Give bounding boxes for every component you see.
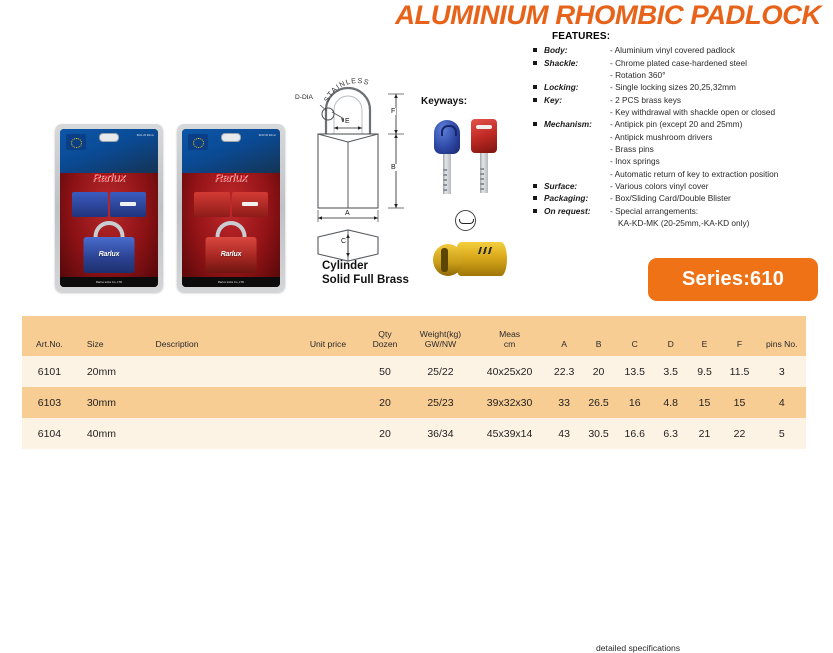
feature-value: - 2 PCS brass keys xyxy=(610,94,833,106)
bullet-square-icon xyxy=(533,57,544,65)
cell-f: 15 xyxy=(721,387,757,418)
col-unit-price: Unit price xyxy=(295,316,362,356)
lock-body-shape: Rarlux xyxy=(206,237,257,273)
feature-value: - Antipick mushroom drivers xyxy=(610,131,833,143)
col-a: detailed specifications A xyxy=(547,316,581,356)
feature-value: - Single locking sizes 20,25,32mm xyxy=(610,81,833,93)
features-heading: FEATURES: xyxy=(552,31,833,43)
cell-d: 4.8 xyxy=(654,387,688,418)
bullet-square-icon xyxy=(533,69,544,73)
cell-size: 40mm xyxy=(77,418,146,449)
bullet-square-icon xyxy=(533,217,544,221)
cylinder-caption: Cylinder Solid Full Brass xyxy=(322,259,409,287)
label-c: C xyxy=(340,238,347,245)
feature-row: Surface:- Various colors vinyl cover xyxy=(533,180,833,192)
feature-row: Locking:- Single locking sizes 20,25,32m… xyxy=(533,81,833,93)
col-a-label: A xyxy=(561,339,567,349)
col-qty-top: Qty xyxy=(361,329,408,339)
feature-row: - Inox springs xyxy=(533,155,833,167)
col-e: E xyxy=(688,316,722,356)
cell-a: 33 xyxy=(547,387,581,418)
feature-value: - Antipick pin (except 20 and 25mm) xyxy=(610,118,833,130)
bullet-square-icon xyxy=(533,143,544,147)
feature-value: - Various colors vinyl cover xyxy=(610,180,833,192)
key-blade-blue xyxy=(443,154,451,194)
features-block: FEATURES: Body:- Aluminium vinyl covered… xyxy=(533,31,833,230)
key-cap-left xyxy=(194,192,230,217)
cell-b: 26.5 xyxy=(581,387,615,418)
bullet-square-icon xyxy=(533,180,544,188)
feature-row: On request:- Special arrangements: xyxy=(533,205,833,217)
key-blue xyxy=(434,120,460,194)
table-head: Art.No. Size Description Unit price Qty … xyxy=(22,316,806,356)
eu-badge-icon xyxy=(188,134,208,150)
feature-value: - Chrome plated case-hardened steel xyxy=(610,57,833,69)
key-cap-left xyxy=(72,192,108,217)
feature-row: - Automatic return of key to extraction … xyxy=(533,168,833,180)
specifications-table: Art.No. Size Description Unit price Qty … xyxy=(22,316,806,449)
cell-description xyxy=(146,356,295,387)
key-cap-right xyxy=(232,192,268,217)
brass-cylinder-photo xyxy=(433,238,509,282)
cell-weight: 25/22 xyxy=(409,356,473,387)
col-size: Size xyxy=(77,316,146,356)
cell-description xyxy=(146,387,295,418)
feature-value: - Key withdrawal with shackle open or cl… xyxy=(610,106,833,118)
feature-row: Packaging:- Box/Sliding Card/Double Blis… xyxy=(533,192,833,204)
table-row: 610330mm2025/2339x32x303326.5164.815154 xyxy=(22,387,806,418)
key-red xyxy=(471,119,497,193)
bullet-square-icon xyxy=(533,44,544,52)
feature-label: Key: xyxy=(544,94,610,106)
cell-art-no: 6104 xyxy=(22,418,77,449)
cell-art-no: 6101 xyxy=(22,356,77,387)
key-cap-right xyxy=(110,192,146,217)
cell-d: 3.5 xyxy=(654,356,688,387)
cell-unit-price xyxy=(295,356,362,387)
bullet-square-icon xyxy=(533,192,544,200)
bullet-square-icon xyxy=(533,106,544,110)
package-code-blue: 6101 20 20mm xyxy=(137,134,154,137)
cell-b: 30.5 xyxy=(581,418,615,449)
cell-f: 22 xyxy=(721,418,757,449)
col-b: B xyxy=(581,316,615,356)
cell-description xyxy=(146,418,295,449)
col-pins: pins No. xyxy=(758,316,806,356)
shackle-shape xyxy=(93,221,125,237)
feature-value: - Special arrangements: xyxy=(610,205,833,217)
col-weight: Weight(kg) GW/NW xyxy=(409,316,473,356)
bullet-square-icon xyxy=(533,205,544,213)
stainless-label: STAINLESS xyxy=(318,78,396,118)
bullet-square-icon xyxy=(533,168,544,172)
label-d-dia: D-DIA xyxy=(295,94,313,101)
catalog-page: ALUMINIUM RHOMBIC PADLOCK FEATURES: Body… xyxy=(0,0,833,449)
feature-value: - Box/Sliding Card/Double Blister xyxy=(610,192,833,204)
label-a: A xyxy=(344,210,351,217)
table-row: 610440mm2036/3445x39x144330.516.66.32122… xyxy=(22,418,806,449)
cell-a: 22.3 xyxy=(547,356,581,387)
blister-card-blue: 6101 20 20mm Rarlux Rarlux Rarlux locks … xyxy=(60,129,158,287)
col-d: D xyxy=(654,316,688,356)
label-e: E xyxy=(344,118,351,125)
lock-body-shape: Rarlux xyxy=(84,237,135,273)
page-title: ALUMINIUM RHOMBIC PADLOCK xyxy=(379,0,833,30)
feature-value: - Rotation 360° xyxy=(610,69,833,81)
cell-c: 16.6 xyxy=(616,418,654,449)
col-meas-top: Meas xyxy=(472,329,547,339)
feature-label: On request: xyxy=(544,205,610,217)
cell-unit-price xyxy=(295,418,362,449)
bullet-square-icon xyxy=(533,94,544,102)
feature-label: Packaging: xyxy=(544,192,610,204)
cell-unit-price xyxy=(295,387,362,418)
col-weight-top: Weight(kg) xyxy=(409,329,473,339)
bullet-square-icon xyxy=(533,118,544,126)
feature-value: - Brass pins xyxy=(610,143,833,155)
package-brand-blue: Rarlux xyxy=(60,172,158,184)
key-pack-red xyxy=(194,192,268,217)
label-f: F xyxy=(390,108,396,115)
feature-row: - Antipick mushroom drivers xyxy=(533,131,833,143)
col-qty: Qty Dozen xyxy=(361,316,408,356)
cell-meas: 39x32x30 xyxy=(472,387,547,418)
cell-c: 13.5 xyxy=(616,356,654,387)
package-footer-red: Rarlux locks Co.,LTD xyxy=(182,277,280,287)
cell-pins: 4 xyxy=(758,387,806,418)
col-meas: Meas cm xyxy=(472,316,547,356)
shackle-shape xyxy=(215,221,247,237)
cell-c: 16 xyxy=(616,387,654,418)
key-head-red xyxy=(471,119,497,153)
table-body: 610120mm5025/2240x25x2022.32013.53.59.51… xyxy=(22,356,806,449)
package-code-red: 6103 30 30mm xyxy=(259,134,276,137)
feature-row: Key:- 2 PCS brass keys xyxy=(533,94,833,106)
cell-size: 20mm xyxy=(77,356,146,387)
lock-brand-red: Rarlux xyxy=(206,251,257,258)
cell-pins: 3 xyxy=(758,356,806,387)
feature-label: Mechanism: xyxy=(544,118,610,130)
feature-label: Locking: xyxy=(544,81,610,93)
product-photo-red: 6103 30 30mm Rarlux Rarlux Rarlux locks … xyxy=(177,124,285,292)
feature-row: - Brass pins xyxy=(533,143,833,155)
cell-a: 43 xyxy=(547,418,581,449)
bullet-square-icon xyxy=(533,81,544,89)
cell-qty: 20 xyxy=(361,387,408,418)
cell-d: 6.3 xyxy=(654,418,688,449)
cylinder-ribs xyxy=(478,247,494,254)
feature-row: KA-KD-MK (20-25mm,-KA-KD only) xyxy=(533,217,833,229)
feature-row: - Rotation 360° xyxy=(533,69,833,81)
series-badge: Series:610 xyxy=(648,258,818,301)
cell-meas: 40x25x20 xyxy=(472,356,547,387)
table-row: 610120mm5025/2240x25x2022.32013.53.59.51… xyxy=(22,356,806,387)
hang-hole-icon xyxy=(99,133,119,142)
feature-value: - Inox springs xyxy=(610,155,833,167)
cell-e: 9.5 xyxy=(688,356,722,387)
cell-weight: 25/23 xyxy=(409,387,473,418)
cell-qty: 50 xyxy=(361,356,408,387)
lock-brand-blue: Rarlux xyxy=(84,251,135,258)
col-weight-bottom: GW/NW xyxy=(425,339,457,349)
cylinder-caption-line2: Solid Full Brass xyxy=(322,273,409,287)
cell-e: 15 xyxy=(688,387,722,418)
feature-label: Surface: xyxy=(544,180,610,192)
blister-card-red: 6103 30 30mm Rarlux Rarlux Rarlux locks … xyxy=(182,129,280,287)
keyways-title: Keyways: xyxy=(421,96,467,107)
cylinder-keyway-face xyxy=(433,244,463,276)
col-f: F xyxy=(721,316,757,356)
cell-pins: 5 xyxy=(758,418,806,449)
feature-value: KA-KD-MK (20-25mm,-KA-KD only) xyxy=(610,217,833,229)
feature-row: - Key withdrawal with shackle open or cl… xyxy=(533,106,833,118)
cell-weight: 36/34 xyxy=(409,418,473,449)
package-brand-red: Rarlux xyxy=(182,172,280,184)
key-head-blue xyxy=(434,120,460,154)
col-qty-bottom: Dozen xyxy=(373,339,398,349)
cell-size: 30mm xyxy=(77,387,146,418)
cylinder-caption-line1: Cylinder xyxy=(322,259,409,273)
cell-art-no: 6103 xyxy=(22,387,77,418)
eu-badge-icon xyxy=(66,134,86,150)
cell-qty: 20 xyxy=(361,418,408,449)
product-photo-blue: 6101 20 20mm Rarlux Rarlux Rarlux locks … xyxy=(55,124,163,292)
col-description: Description xyxy=(146,316,295,356)
col-meas-bottom: cm xyxy=(504,339,515,349)
feature-row: Body:- Aluminium vinyl covered padlock xyxy=(533,44,833,56)
cell-meas: 45x39x14 xyxy=(472,418,547,449)
spec-group-label: detailed specifications xyxy=(596,643,680,653)
bullet-square-icon xyxy=(533,131,544,135)
feature-label: Body: xyxy=(544,44,610,56)
cell-b: 20 xyxy=(581,356,615,387)
key-pack-blue xyxy=(72,192,146,217)
package-footer-blue: Rarlux locks Co.,LTD xyxy=(60,277,158,287)
table-header-row: Art.No. Size Description Unit price Qty … xyxy=(22,316,806,356)
feature-row: Shackle:- Chrome plated case-hardened st… xyxy=(533,57,833,69)
hang-hole-icon xyxy=(221,133,241,142)
padlock-photo-red: Rarlux xyxy=(206,221,257,273)
svg-text:STAINLESS: STAINLESS xyxy=(322,78,371,103)
feature-value: - Aluminium vinyl covered padlock xyxy=(610,44,833,56)
bullet-square-icon xyxy=(533,155,544,159)
key-blade-red xyxy=(480,153,488,193)
feature-value: - Automatic return of key to extraction … xyxy=(610,168,833,180)
cell-f: 11.5 xyxy=(721,356,757,387)
keyway-profile-icon xyxy=(455,210,476,231)
feature-row: Mechanism:- Antipick pin (except 20 and … xyxy=(533,118,833,130)
label-b: B xyxy=(390,164,397,171)
padlock-photo-blue: Rarlux xyxy=(84,221,135,273)
feature-label: Shackle: xyxy=(544,57,610,69)
col-art-no: Art.No. xyxy=(22,316,77,356)
col-c: C xyxy=(616,316,654,356)
cell-e: 21 xyxy=(688,418,722,449)
